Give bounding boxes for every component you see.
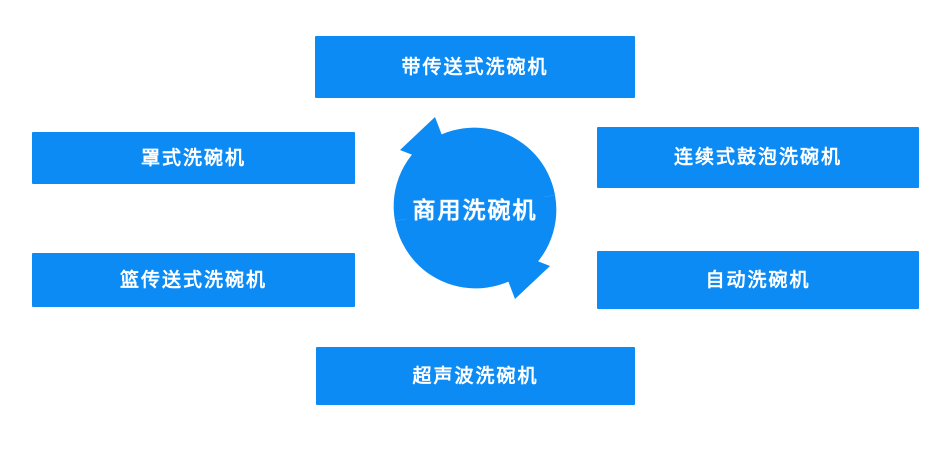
- center-hub[interactable]: 商用洗碗机: [365, 103, 585, 313]
- node-label-left-lower: 篮传送式洗碗机: [120, 269, 267, 292]
- node-box-bottom[interactable]: 超声波洗碗机: [316, 347, 635, 405]
- node-label-right-upper: 连续式鼓泡洗碗机: [674, 146, 842, 169]
- node-box-left-lower[interactable]: 篮传送式洗碗机: [32, 253, 355, 307]
- node-box-left-upper[interactable]: 罩式洗碗机: [32, 132, 355, 184]
- node-box-right-upper[interactable]: 连续式鼓泡洗碗机: [597, 127, 919, 188]
- center-hub-label: 商用洗碗机: [365, 103, 585, 313]
- node-label-left-upper: 罩式洗碗机: [141, 147, 246, 170]
- diagram-canvas: 带传送式洗碗机 罩式洗碗机 篮传送式洗碗机 连续式鼓泡洗碗机 自动洗碗机 超声波…: [0, 0, 945, 476]
- node-box-right-lower[interactable]: 自动洗碗机: [597, 251, 919, 309]
- node-box-top[interactable]: 带传送式洗碗机: [315, 36, 635, 98]
- node-label-top: 带传送式洗碗机: [401, 56, 548, 79]
- node-label-bottom: 超声波洗碗机: [412, 365, 538, 388]
- node-label-right-lower: 自动洗碗机: [705, 269, 810, 292]
